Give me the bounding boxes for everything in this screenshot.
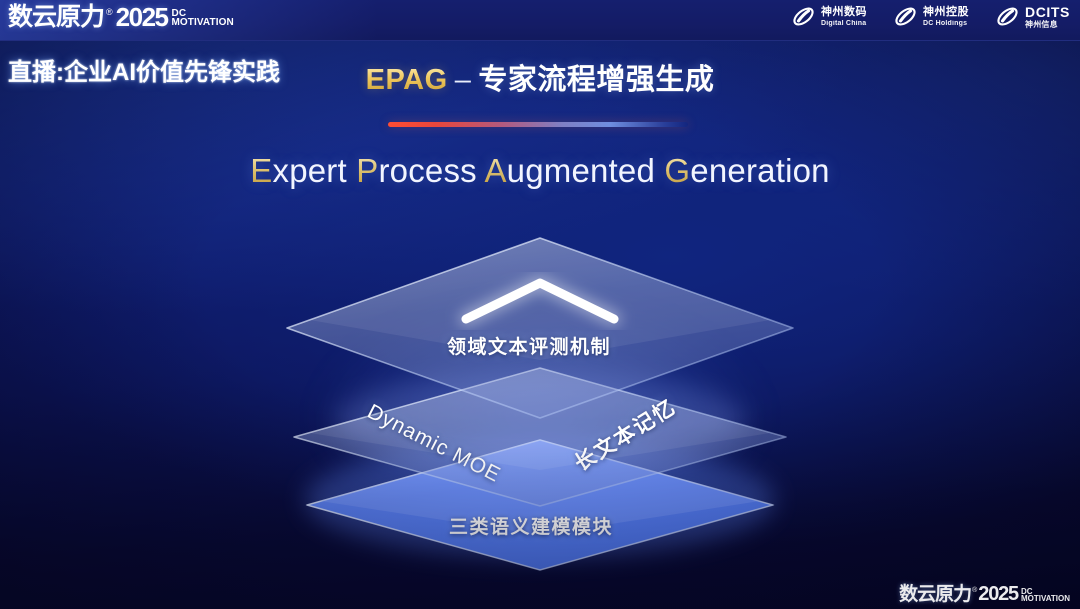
watermark-name-cn: 数云原力 <box>899 585 971 604</box>
diagram-layer-bottom <box>307 440 773 570</box>
page-title-chinese: 专家流程增强生成 <box>478 64 714 96</box>
swirl-logo-icon <box>893 4 918 29</box>
subtitle-rest-generation: eneration <box>690 152 829 189</box>
brand-registered-mark: ® <box>106 8 113 17</box>
layer-top-label: 领域文本评测机制 <box>447 332 611 359</box>
center-glow <box>220 250 860 580</box>
subtitle-cap-e: E <box>250 152 272 189</box>
partner-logo-en: DC Holdings <box>923 20 969 27</box>
partner-logo-dc-holdings: 神州控股 DC Holdings <box>893 4 969 29</box>
watermark-registered-mark: ® <box>972 587 977 594</box>
subtitle-rest-expert: xpert <box>273 152 347 189</box>
watermark-motivation: MOTIVATION <box>1021 595 1070 603</box>
partner-logo-cn: DCITS <box>1025 5 1070 19</box>
subtitle-rest-augmented: ugmented <box>507 152 655 189</box>
subtitle: Expert Process Augmented Generation <box>0 152 1080 190</box>
subtitle-cap-p: P <box>356 152 378 189</box>
layer-bottom-label: 三类语义建模模块 <box>449 512 613 539</box>
swirl-logo-icon <box>995 4 1020 29</box>
title-divider <box>388 122 688 127</box>
top-banner: 数云原力 ® 2025 DC MOTIVATION 神州数码 Digital C… <box>0 0 1080 41</box>
diagram-layer-middle <box>294 368 786 506</box>
subtitle-cap-g: G <box>664 152 690 189</box>
partner-logo-dcits: DCITS 神州信息 <box>995 4 1070 29</box>
live-stream-title: 直播:企业AI价值先锋实践 <box>8 52 280 87</box>
partner-logo-group: 神州数码 Digital China 神州控股 DC Holdings <box>791 4 1070 29</box>
subtitle-cap-a: A <box>484 152 506 189</box>
layer-middle-label-left: Dynamic MOE <box>363 400 504 488</box>
layer-middle-label-right: 长文本记忆 <box>568 391 681 477</box>
partner-logo-en: Digital China <box>821 20 867 27</box>
watermark-year: 2025 <box>978 584 1018 604</box>
swirl-logo-icon <box>791 4 816 29</box>
partner-logo-cn: 神州数码 <box>821 7 867 18</box>
partner-logo-digital-china: 神州数码 Digital China <box>791 4 867 29</box>
brand-year: 2025 <box>116 4 168 30</box>
slide-canvas: 领域文本评测机制 Dynamic MOE 长文本记忆 三类语义建模模块 EPAG… <box>0 0 1080 609</box>
brand-name-cn: 数云原力 <box>8 5 104 30</box>
brand-logo: 数云原力 ® 2025 DC MOTIVATION <box>8 4 234 30</box>
brand-motivation: MOTIVATION <box>172 18 234 28</box>
chevron-up-icon <box>466 283 614 319</box>
footer-watermark-logo: 数云原力 ® 2025 DC MOTIVATION <box>899 584 1070 604</box>
partner-logo-en: 神州信息 <box>1025 21 1070 29</box>
diagram-layer-top <box>287 238 793 418</box>
partner-logo-cn: 神州控股 <box>923 7 969 18</box>
subtitle-rest-process: rocess <box>378 152 476 189</box>
page-title-dash: – <box>455 64 472 96</box>
page-title-acronym: EPAG <box>366 64 448 96</box>
